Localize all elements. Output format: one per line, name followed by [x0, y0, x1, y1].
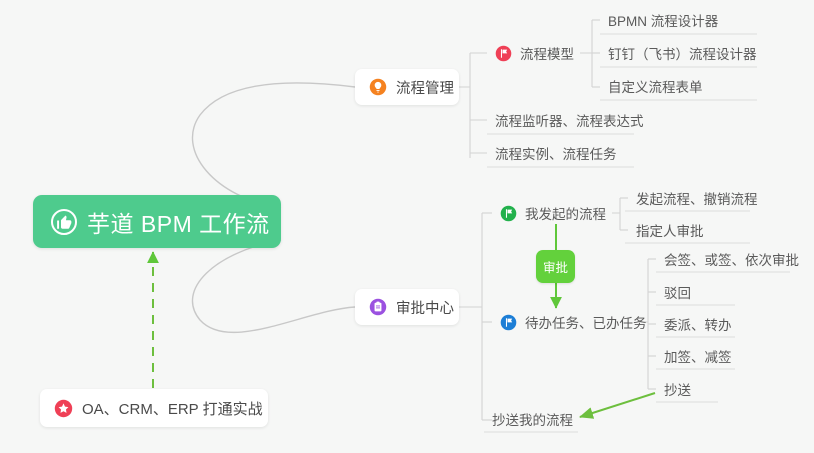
leaf-delegate-transfer[interactable]: 委派、转办: [656, 309, 736, 339]
leaf-dingtalk-feishu-designer-label: 钉钉（飞书）流程设计器: [608, 43, 757, 63]
leaf-cc-to-me-process[interactable]: 抄送我的流程: [484, 404, 577, 434]
mindmap-canvas: 芋道 BPM 工作流 流程管理 流程模型 BPMN 流程设计器 钉钉（飞书）流程…: [0, 0, 814, 453]
leaf-start-cancel-process[interactable]: 发起流程、撤销流程: [628, 183, 762, 213]
leaf-reject-label: 驳回: [664, 282, 691, 302]
node-process-management[interactable]: 流程管理: [355, 69, 459, 105]
node-my-started-process-label: 我发起的流程: [525, 203, 606, 223]
node-my-started-process[interactable]: 我发起的流程: [492, 198, 610, 228]
leaf-start-cancel-process-label: 发起流程、撤销流程: [636, 188, 758, 208]
leaf-bpmn-designer[interactable]: BPMN 流程设计器: [600, 5, 722, 35]
connector-approval-center-spine: [459, 213, 482, 420]
leaf-dingtalk-feishu-designer[interactable]: 钉钉（飞书）流程设计器: [600, 38, 761, 68]
connector-my-started-spine: [612, 198, 620, 230]
leaf-delegate-transfer-label: 委派、转办: [664, 314, 732, 334]
star-icon: [54, 399, 73, 418]
node-todo-done-tasks-label: 待办任务、已办任务: [525, 312, 647, 332]
node-process-model[interactable]: 流程模型: [487, 38, 578, 68]
node-process-model-label: 流程模型: [520, 43, 574, 63]
node-approval-center-label: 审批中心: [396, 297, 454, 318]
leaf-add-remove-sign[interactable]: 加签、减签: [656, 341, 736, 371]
clipboard-icon: [369, 298, 387, 316]
node-oa-crm-erp[interactable]: OA、CRM、ERP 打通实战: [40, 389, 268, 427]
leaf-process-instance-task-label: 流程实例、流程任务: [495, 143, 617, 163]
lightbulb-icon: [369, 78, 387, 96]
approve-badge[interactable]: 审批: [536, 250, 575, 283]
root-label: 芋道 BPM 工作流: [87, 205, 270, 239]
leaf-carbon-copy-label: 抄送: [664, 379, 691, 399]
leaf-countersign-or-sequential-label: 会签、或签、依次审批: [664, 249, 799, 269]
connector-root-to-approval-center: [192, 240, 355, 332]
leaf-custom-process-form[interactable]: 自定义流程表单: [600, 71, 707, 101]
thumbs-up-icon: [51, 209, 77, 235]
flag-icon: [500, 314, 517, 331]
leaf-countersign-or-sequential[interactable]: 会签、或签、依次审批: [656, 244, 803, 274]
leaf-process-listener-expression[interactable]: 流程监听器、流程表达式: [487, 105, 648, 135]
node-oa-crm-erp-label: OA、CRM、ERP 打通实战: [82, 398, 263, 419]
leaf-assignee-approval[interactable]: 指定人审批: [628, 215, 708, 245]
node-process-management-label: 流程管理: [396, 77, 454, 98]
leaf-cc-to-me-process-label: 抄送我的流程: [492, 409, 573, 429]
leaf-add-remove-sign-label: 加签、减签: [664, 346, 732, 366]
root-node[interactable]: 芋道 BPM 工作流: [33, 195, 281, 248]
leaf-reject[interactable]: 驳回: [656, 277, 695, 307]
connector-root-to-process-management: [192, 83, 355, 208]
approve-badge-label: 审批: [543, 257, 568, 276]
flag-icon: [495, 45, 512, 62]
arrow-cc-to-cc-mine: [580, 393, 655, 417]
node-approval-center[interactable]: 审批中心: [355, 289, 459, 325]
leaf-assignee-approval-label: 指定人审批: [636, 220, 704, 240]
leaf-process-instance-task[interactable]: 流程实例、流程任务: [487, 138, 621, 168]
leaf-process-listener-expression-label: 流程监听器、流程表达式: [495, 110, 644, 130]
leaf-custom-process-form-label: 自定义流程表单: [608, 76, 703, 96]
leaf-carbon-copy[interactable]: 抄送: [656, 374, 695, 404]
flag-icon: [500, 205, 517, 222]
node-todo-done-tasks[interactable]: 待办任务、已办任务: [492, 307, 651, 337]
connector-model-spine: [580, 20, 592, 87]
connector-process-mgmt-spine: [459, 53, 470, 158]
leaf-bpmn-designer-label: BPMN 流程设计器: [608, 10, 718, 30]
